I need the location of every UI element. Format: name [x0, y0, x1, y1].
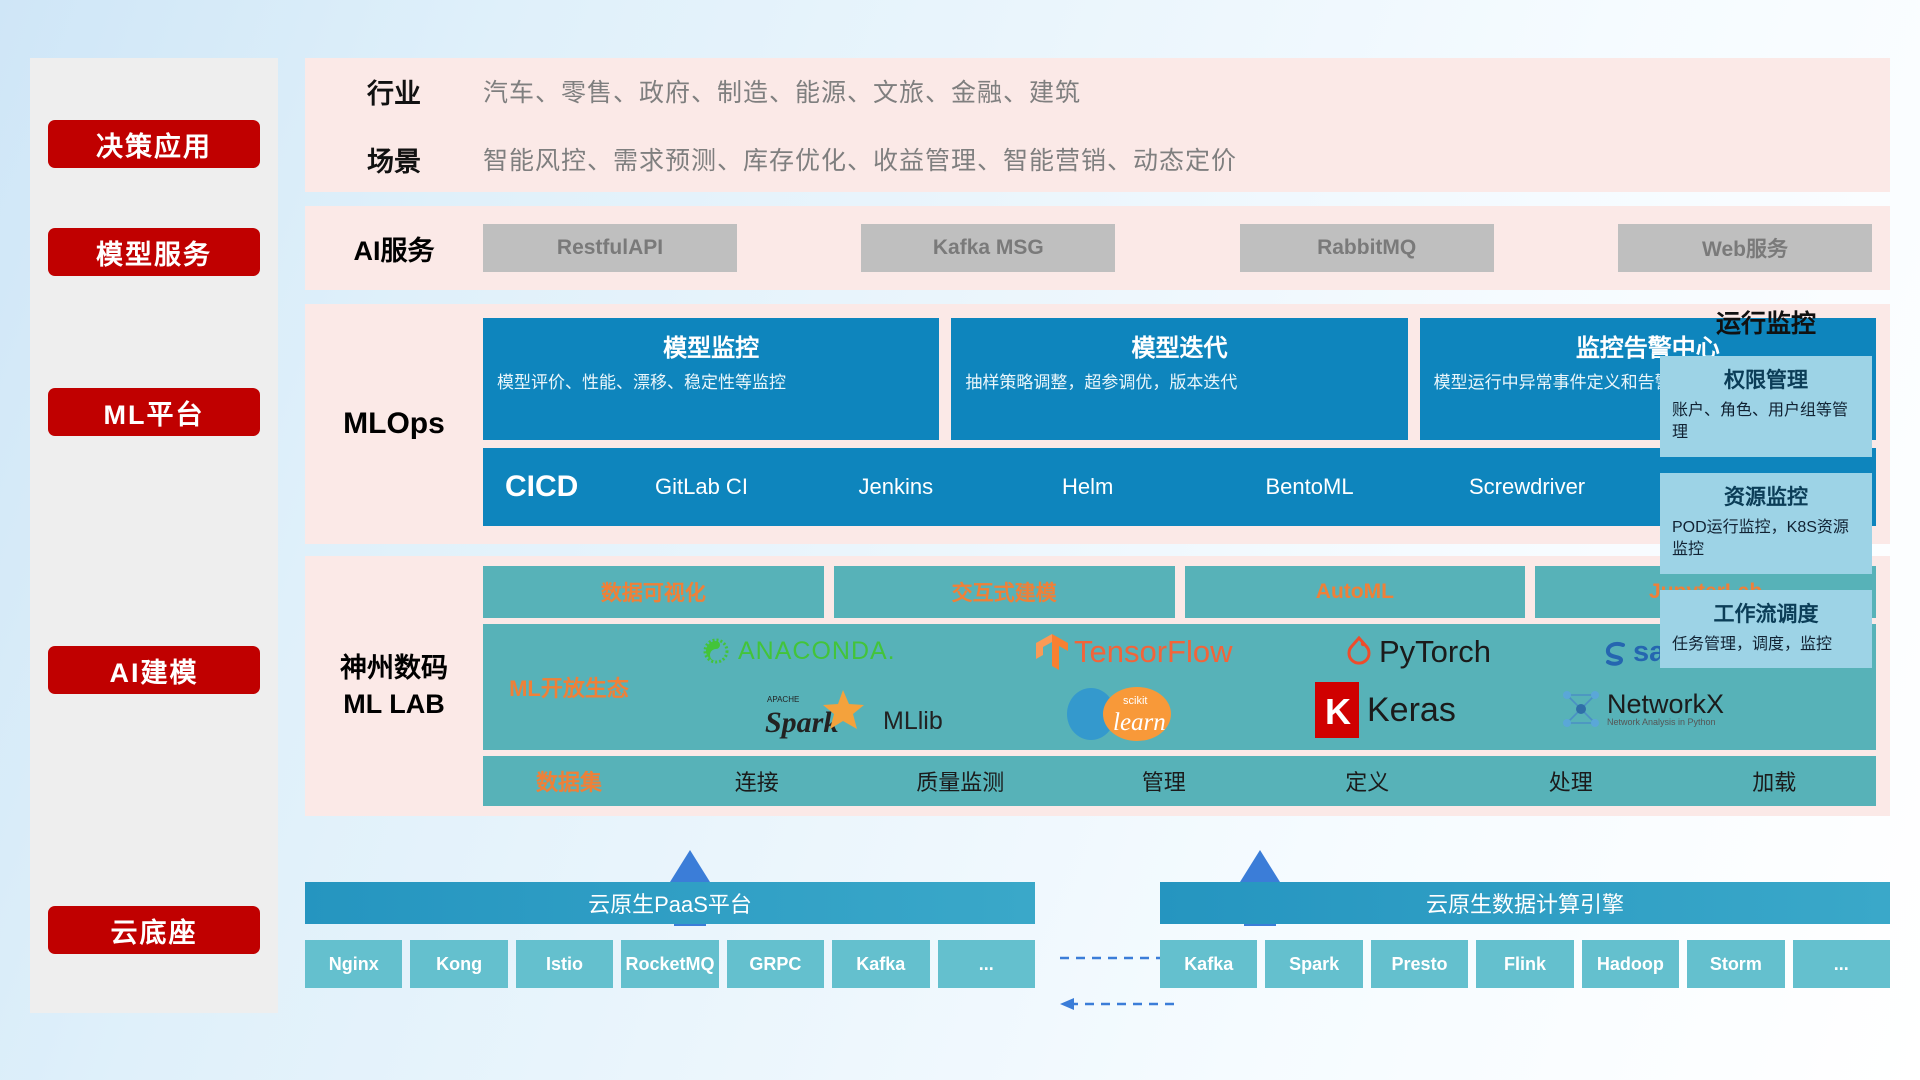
logo-anaconda-text: ANACONDA. — [738, 637, 896, 666]
svg-text:Spark: Spark — [765, 706, 838, 739]
cloud-compute-group: 云原生数据计算引擎 Kafka Spark Presto Flink Hadoo… — [1160, 882, 1890, 988]
cloud-base-section: 云原生PaaS平台 Nginx Kong Istio RocketMQ GRPC… — [305, 882, 1890, 1014]
ml-lab-label-line2: ML LAB — [340, 686, 448, 722]
mlops-card-model-monitoring[interactable]: 模型监控 模型评价、性能、漂移、稳定性等监控 — [483, 318, 939, 440]
logo-scikit-learn: scikit learn — [1065, 684, 1195, 747]
compute-chip-flink[interactable]: Flink — [1476, 940, 1573, 988]
spark-icon: APACHE Spark — [765, 688, 877, 740]
monitoring-card-resource[interactable]: 资源监控 POD运行监控，K8S资源监控 — [1660, 473, 1872, 574]
ai-service-label: AI服务 — [305, 229, 483, 268]
mlops-card-model-iteration[interactable]: 模型迭代 抽样策略调整，超参调优，版本迭代 — [951, 318, 1407, 440]
dataset-item-connect[interactable]: 连接 — [655, 765, 859, 797]
cicd-item-jenkins[interactable]: Jenkins — [859, 475, 1063, 499]
sas-icon — [1600, 638, 1630, 668]
scenario-label: 场景 — [305, 140, 483, 179]
layer-chip-ai-modeling[interactable]: AI建模 — [48, 646, 260, 694]
scikit-learn-icon: scikit learn — [1065, 684, 1195, 742]
logo-pytorch-text: PyTorch — [1379, 634, 1491, 670]
architecture-diagram: 决策应用 模型服务 ML平台 AI建模 云底座 行业 汽车、零售、政府、制造、能… — [0, 0, 1920, 1080]
tensorflow-icon — [1035, 632, 1069, 672]
card-title: 工作流调度 — [1672, 598, 1860, 628]
logo-pytorch: PyTorch — [1345, 634, 1491, 670]
logo-tensorflow: TensorFlow — [1035, 632, 1233, 672]
industry-value: 汽车、零售、政府、制造、能源、文旅、金融、建筑 — [483, 73, 1890, 109]
service-chip-rabbitmq[interactable]: RabbitMQ — [1240, 224, 1494, 272]
layer-chip-decision[interactable]: 决策应用 — [48, 120, 260, 168]
mlops-band: MLOps 模型监控 模型评价、性能、漂移、稳定性等监控 模型迭代 抽样策略调整… — [305, 304, 1890, 544]
tool-chip-automl[interactable]: AutoML — [1185, 566, 1526, 618]
card-title: 模型迭代 — [965, 328, 1393, 363]
logo-anaconda: ANACONDA. — [701, 636, 896, 666]
dataset-row: 数据集 连接 质量监测 管理 定义 处理 加载 — [483, 756, 1876, 806]
mlops-label: MLOps — [305, 304, 483, 544]
svg-text:learn: learn — [1113, 709, 1166, 736]
logo-keras-text: Keras — [1367, 691, 1456, 730]
dataset-heading: 数据集 — [483, 765, 655, 797]
dataset-item-definition[interactable]: 定义 — [1266, 765, 1470, 797]
ai-service-band: AI服务 RestfulAPI Kafka MSG RabbitMQ Web服务 — [305, 206, 1890, 290]
paas-chip-nginx[interactable]: Nginx — [305, 940, 402, 988]
layer-chip-model-service[interactable]: 模型服务 — [48, 228, 260, 276]
monitoring-card-workflow[interactable]: 工作流调度 任务管理，调度，监控 — [1660, 590, 1872, 668]
cicd-item-screwdriver[interactable]: Screwdriver — [1469, 475, 1673, 499]
runtime-monitoring-title: 运行监控 — [1660, 304, 1872, 340]
cloud-paas-title: 云原生PaaS平台 — [305, 882, 1035, 924]
card-title: 资源监控 — [1672, 481, 1860, 511]
cloud-paas-group: 云原生PaaS平台 Nginx Kong Istio RocketMQ GRPC… — [305, 882, 1035, 988]
compute-chip-more[interactable]: ... — [1793, 940, 1890, 988]
dataset-item-processing[interactable]: 处理 — [1469, 765, 1673, 797]
anaconda-icon — [701, 636, 731, 666]
paas-chip-istio[interactable]: Istio — [516, 940, 613, 988]
card-desc: 模型评价、性能、漂移、稳定性等监控 — [497, 371, 925, 395]
cloud-compute-title: 云原生数据计算引擎 — [1160, 882, 1890, 924]
svg-text:APACHE: APACHE — [767, 695, 799, 704]
svg-text:scikit: scikit — [1123, 695, 1147, 707]
industry-scenario-band: 行业 汽车、零售、政府、制造、能源、文旅、金融、建筑 场景 智能风控、需求预测、… — [305, 58, 1890, 192]
tool-chip-interactive-modeling[interactable]: 交互式建模 — [834, 566, 1175, 618]
cloud-compute-chip-list: Kafka Spark Presto Flink Hadoop Storm ..… — [1160, 940, 1890, 988]
ml-lab-label-line1: 神州数码 — [340, 650, 448, 686]
dataset-item-list: 连接 质量监测 管理 定义 处理 加载 — [655, 765, 1876, 797]
ai-service-chip-list: RestfulAPI Kafka MSG RabbitMQ Web服务 — [483, 224, 1890, 272]
cicd-heading: CICD — [505, 470, 655, 504]
cloud-paas-chip-list: Nginx Kong Istio RocketMQ GRPC Kafka ... — [305, 940, 1035, 988]
pytorch-icon — [1345, 635, 1373, 669]
compute-chip-storm[interactable]: Storm — [1687, 940, 1784, 988]
service-chip-kafka-msg[interactable]: Kafka MSG — [861, 224, 1115, 272]
keras-icon: K — [1315, 682, 1359, 738]
paas-chip-rocketmq[interactable]: RocketMQ — [621, 940, 718, 988]
dataset-item-quality-monitoring[interactable]: 质量监测 — [859, 765, 1063, 797]
paas-chip-kong[interactable]: Kong — [410, 940, 507, 988]
scenario-value: 智能风控、需求预测、库存优化、收益管理、智能营销、动态定价 — [483, 141, 1890, 177]
paas-chip-more[interactable]: ... — [938, 940, 1035, 988]
networkx-icon — [1560, 686, 1602, 732]
ml-lab-label: 神州数码 ML LAB — [305, 556, 483, 816]
logo-networkx-text: NetworkX — [1607, 691, 1724, 718]
runtime-monitoring-column: 运行监控 权限管理 账户、角色、用户组等管理 资源监控 POD运行监控，K8S资… — [1660, 304, 1872, 684]
cicd-item-helm[interactable]: Helm — [1062, 475, 1266, 499]
industry-label: 行业 — [305, 72, 483, 111]
compute-chip-hadoop[interactable]: Hadoop — [1582, 940, 1679, 988]
card-desc: 账户、角色、用户组等管理 — [1672, 400, 1860, 445]
card-desc: POD运行监控，K8S资源监控 — [1672, 517, 1860, 562]
svg-text:K: K — [1325, 691, 1351, 732]
compute-chip-kafka[interactable]: Kafka — [1160, 940, 1257, 988]
logo-tensorflow-text: TensorFlow — [1074, 634, 1233, 670]
ml-ecosystem-heading: ML开放生态 — [483, 671, 655, 703]
tool-chip-data-visualization[interactable]: 数据可视化 — [483, 566, 824, 618]
service-chip-restfulapi[interactable]: RestfulAPI — [483, 224, 737, 272]
dataset-item-management[interactable]: 管理 — [1062, 765, 1266, 797]
card-title: 模型监控 — [497, 328, 925, 363]
logo-networkx: NetworkX Network Analysis in Python — [1560, 686, 1724, 732]
compute-chip-presto[interactable]: Presto — [1371, 940, 1468, 988]
card-desc: 任务管理，调度，监控 — [1672, 634, 1860, 656]
logo-spark-mllib: APACHE Spark MLlib — [765, 688, 943, 740]
logo-keras: K Keras — [1315, 682, 1456, 738]
card-desc: 抽样策略调整，超参调优，版本迭代 — [965, 371, 1393, 395]
compute-chip-spark[interactable]: Spark — [1265, 940, 1362, 988]
paas-chip-grpc[interactable]: GRPC — [727, 940, 824, 988]
cicd-item-gitlab-ci[interactable]: GitLab CI — [655, 475, 859, 499]
dataset-item-loading[interactable]: 加载 — [1673, 765, 1877, 797]
card-title: 权限管理 — [1672, 364, 1860, 394]
paas-chip-kafka[interactable]: Kafka — [832, 940, 929, 988]
ml-lab-band: 神州数码 ML LAB 数据可视化 交互式建模 AutoML JupyterLa… — [305, 556, 1890, 816]
cicd-item-bentoml[interactable]: BentoML — [1266, 475, 1470, 499]
monitoring-card-permission[interactable]: 权限管理 账户、角色、用户组等管理 — [1660, 356, 1872, 457]
logo-networkx-subtext: Network Analysis in Python — [1607, 718, 1724, 727]
layer-chip-ml-platform[interactable]: ML平台 — [48, 388, 260, 436]
service-chip-web[interactable]: Web服务 — [1618, 224, 1872, 272]
